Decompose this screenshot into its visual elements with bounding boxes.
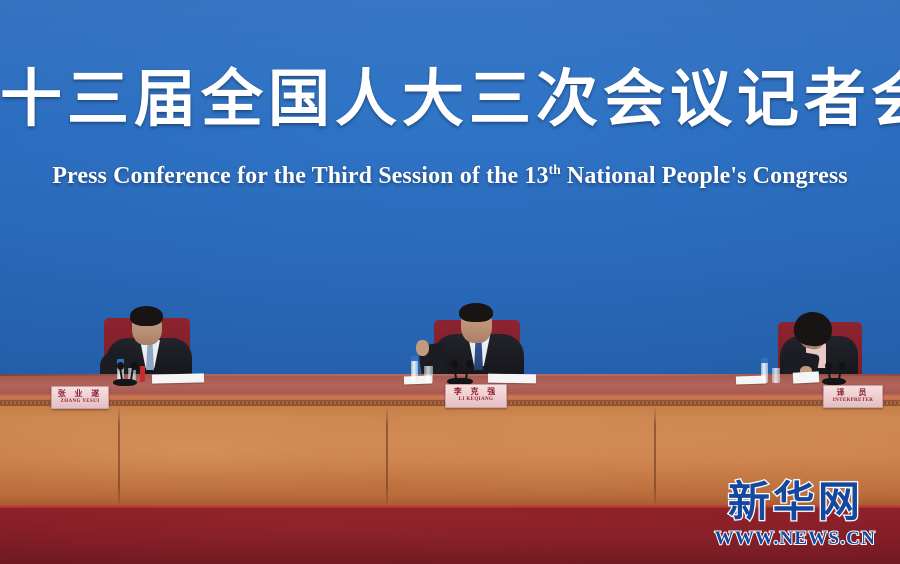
- document-papers: [152, 373, 204, 383]
- nameplate-left-cn: 张 业 遂: [52, 389, 108, 397]
- nameplate-right-en: INTERPRETER: [824, 398, 882, 403]
- person-center-tie: [474, 340, 483, 370]
- title-en-part2: National People's Congress: [561, 163, 848, 189]
- nameplate-left: 张 业 遂 ZHANG YESUI: [51, 386, 109, 409]
- nameplate-center: 李 克 强 LI KEQIANG: [445, 384, 507, 408]
- title-en-ordinal: th: [549, 162, 561, 177]
- water-glass: [424, 366, 433, 383]
- mic-head: [117, 362, 124, 370]
- backdrop-title-english: Press Conference for the Third Session o…: [0, 162, 900, 190]
- mic-head: [825, 362, 832, 370]
- title-en-part1: Press Conference for the Third Session o…: [52, 163, 548, 189]
- nameplate-center-en: LI KEQIANG: [446, 397, 506, 402]
- nameplate-right: 译 员 INTERPRETER: [823, 385, 883, 408]
- mic-base: [822, 378, 846, 385]
- water-bottle: [761, 362, 768, 383]
- water-bottle: [411, 360, 418, 383]
- desk-panel-seam: [118, 406, 120, 506]
- watermark-url-text: WWW.NEWS.CN: [715, 529, 876, 548]
- nameplate-left-en: ZHANG YESUI: [52, 399, 108, 404]
- bottle-cap-icon: [411, 356, 418, 361]
- desk-marker: [140, 366, 145, 382]
- water-glass: [772, 368, 780, 383]
- person-center-hand-raised: [416, 340, 429, 356]
- backdrop-title-chinese: 十三届全国人大三次会议记者会: [0, 66, 900, 131]
- mic-head: [131, 362, 138, 370]
- mic-head: [839, 362, 846, 370]
- mic-head: [466, 360, 473, 368]
- nameplate-center-cn: 李 克 强: [446, 387, 506, 395]
- document-papers: [488, 374, 536, 384]
- person-left-hair: [130, 306, 163, 326]
- notepad: [793, 371, 820, 383]
- mic-head: [451, 360, 458, 368]
- xinhua-watermark: 新华网 WWW.NEWS.CN: [715, 481, 876, 548]
- watermark-logo-text: 新华网: [715, 481, 876, 523]
- bottle-cap-icon: [761, 358, 768, 363]
- screenshot-root: 十三届全国人大三次会议记者会 Press Conference for the …: [0, 0, 900, 564]
- mic-base: [113, 379, 137, 386]
- nameplate-right-cn: 译 员: [824, 388, 882, 396]
- desk-panel-seam: [654, 406, 656, 506]
- desk-panel-seam: [386, 406, 388, 506]
- person-center-hair: [459, 303, 493, 322]
